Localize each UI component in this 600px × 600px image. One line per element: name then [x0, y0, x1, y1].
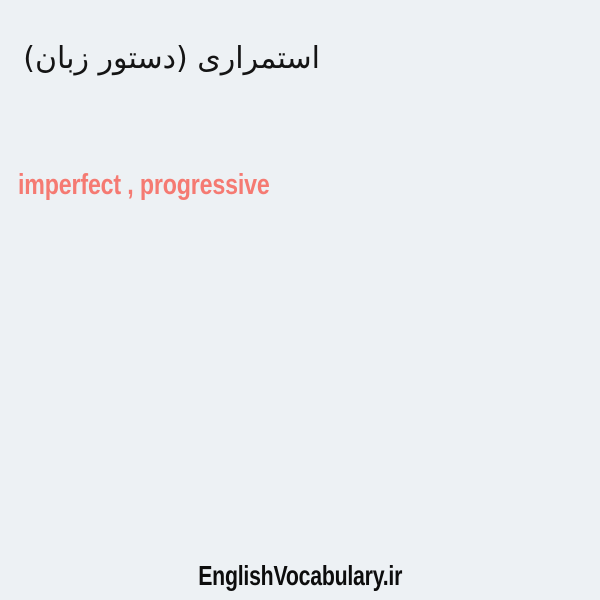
english-meanings: imperfect , progressive — [18, 168, 270, 202]
headword-persian: استمراری (دستور زبان) — [18, 36, 320, 82]
footer: EnglishVocabulary.ir — [0, 560, 600, 592]
site-brand-label: EnglishVocabulary.ir — [198, 560, 402, 592]
vocabulary-card: استمراری (دستور زبان) imperfect , progre… — [0, 0, 600, 600]
